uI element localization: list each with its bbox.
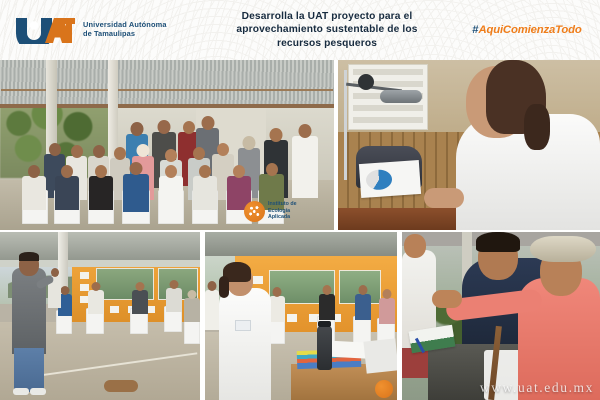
dog xyxy=(104,380,138,392)
water-bottle xyxy=(317,326,332,370)
iea-line-1: Instituto de xyxy=(268,201,297,207)
campaign-hashtag: #AquiComienzaTodo xyxy=(454,0,600,60)
photo-brochure-handout xyxy=(402,232,600,400)
campaign-hashtag-label: AquiComienzaTodo xyxy=(478,24,581,36)
instituto-ecologia-aplicada-logo: Instituto de Ecología Aplicada xyxy=(244,198,326,224)
ecology-institute-mark-icon xyxy=(375,380,393,398)
microphone-icon xyxy=(380,90,422,103)
brochure xyxy=(359,160,421,198)
uat-news-graphic: Universidad Autónoma de Tamaulipas Desar… xyxy=(0,0,600,400)
headline-line-1: Desarrolla la UAT proyecto para el xyxy=(204,10,450,23)
header-bar: Universidad Autónoma de Tamaulipas Desar… xyxy=(0,0,600,60)
uat-logo-name-line2: de Tamaulipas xyxy=(83,30,167,39)
collage-row-top: Instituto de Ecología Aplicada xyxy=(0,60,600,230)
website-watermark: www.uat.edu.mx xyxy=(480,380,594,396)
uat-logo-wordmark: Universidad Autónoma de Tamaulipas xyxy=(83,21,167,38)
photo-presentation-man xyxy=(0,232,200,400)
collage-divider xyxy=(334,60,338,230)
photo-collage: Instituto de Ecología Aplicada xyxy=(0,60,600,400)
collage-row-bottom xyxy=(0,232,600,400)
straw-hat xyxy=(530,236,596,262)
ecology-institute-mark-icon xyxy=(244,201,265,222)
id-badge xyxy=(235,320,251,331)
uat-logo-mark xyxy=(14,17,76,44)
photo-radio-interview xyxy=(338,60,600,230)
collage-divider xyxy=(200,232,205,400)
headline-line-3: recursos pesqueros xyxy=(204,37,450,50)
headline: Desarrolla la UAT proyecto para el aprov… xyxy=(200,10,454,50)
uat-logo: Universidad Autónoma de Tamaulipas xyxy=(0,0,200,60)
presenter-lab-coat xyxy=(219,288,271,400)
campaign-hashtag-text: #AquiComienzaTodo xyxy=(472,24,581,36)
iea-line-3: Aplicada xyxy=(268,214,297,220)
photo-group-photo: Instituto de Ecología Aplicada xyxy=(0,60,334,230)
collage-divider xyxy=(397,232,402,400)
photo-presentation-woman xyxy=(205,232,397,400)
instituto-ecologia-aplicada-label: Instituto de Ecología Aplicada xyxy=(268,201,297,220)
headline-line-2: aprovechamiento sustentable de los xyxy=(204,23,450,36)
